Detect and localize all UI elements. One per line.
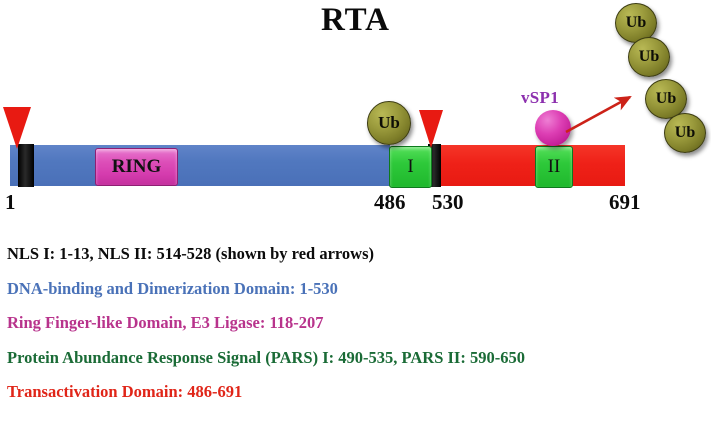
ubiquitin-sphere-on-bar: Ub	[367, 101, 411, 145]
nls-2-red-arrow-icon	[419, 110, 443, 148]
position-label-530: 530	[432, 190, 464, 215]
ubiquitin-chain-sphere-4: Ub	[664, 113, 706, 153]
pars-2-box: II	[535, 146, 573, 188]
position-label-691: 691	[609, 190, 641, 215]
pars-1-box: I	[389, 146, 432, 188]
nls-1-red-arrow-icon	[3, 107, 31, 149]
vsp1-to-ubiquitin-arrow-icon	[560, 82, 650, 142]
nls-1-block	[18, 144, 34, 187]
legend-line-nls: NLS I: 1-13, NLS II: 514-528 (shown by r…	[7, 246, 707, 263]
ring-domain-box: RING	[95, 148, 178, 186]
domain-transactivation-segment	[438, 145, 625, 186]
legend-line-dna-binding: DNA-binding and Dimerization Domain: 1-5…	[7, 281, 707, 298]
legend-line-transactivation: Transactivation Domain: 486-691	[7, 384, 707, 401]
legend: NLS I: 1-13, NLS II: 514-528 (shown by r…	[7, 246, 707, 419]
domain-dna-binding-segment	[10, 145, 390, 186]
page-title: RTA	[0, 2, 711, 39]
position-label-486: 486	[374, 190, 406, 215]
position-label-start: 1	[5, 190, 16, 215]
ubiquitin-chain-sphere-2: Ub	[628, 37, 670, 77]
vsp1-label: vSP1	[521, 88, 559, 108]
legend-line-ring-finger: Ring Finger-like Domain, E3 Ligase: 118-…	[7, 315, 707, 332]
legend-line-pars: Protein Abundance Response Signal (PARS)…	[7, 350, 707, 367]
figure-canvas: RTA RING I II Ub vSP1 Ub Ub Ub Ub 1 486 …	[0, 0, 711, 429]
